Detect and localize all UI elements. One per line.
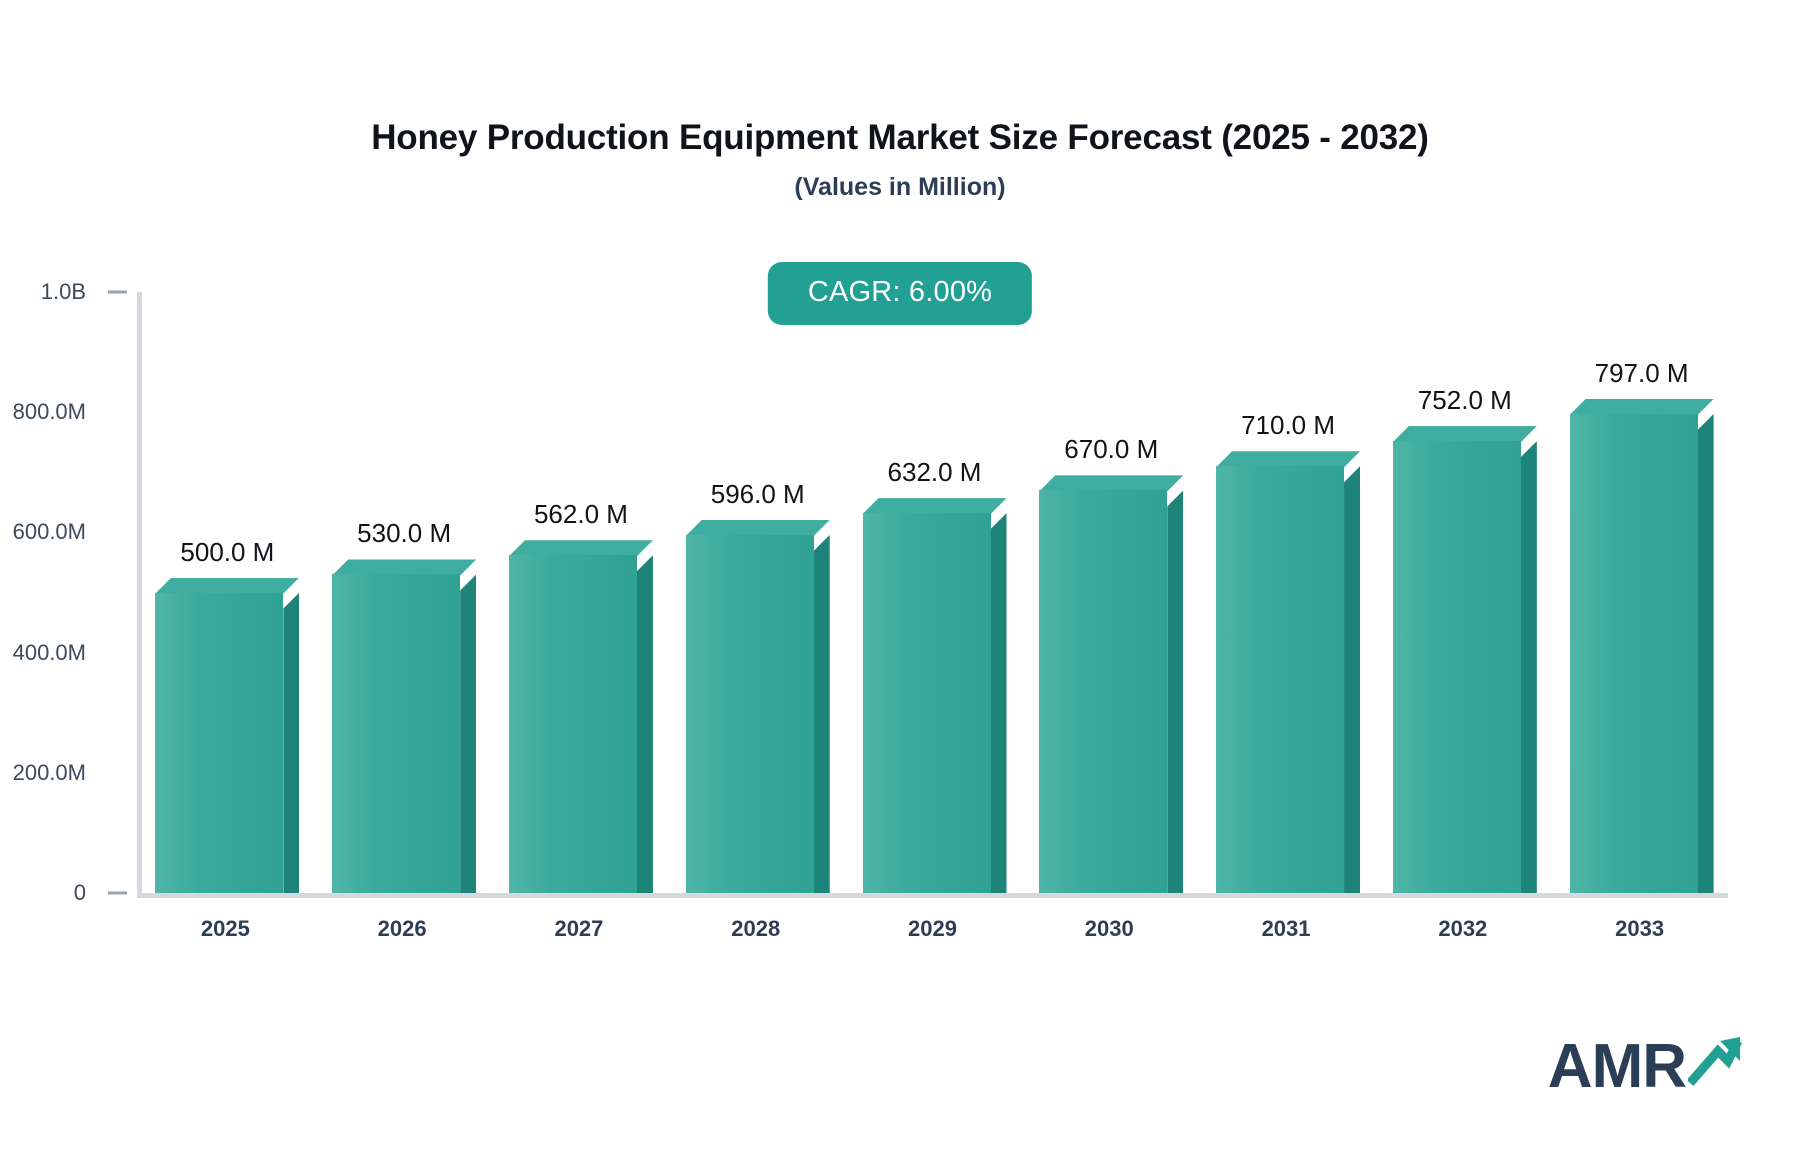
y-axis-line bbox=[137, 292, 142, 893]
y-axis-tick-label: 1.0B bbox=[0, 279, 86, 305]
x-axis-tick-label: 2033 bbox=[1615, 916, 1664, 942]
bar-top-face bbox=[686, 520, 830, 536]
growth-arrow-icon bbox=[1688, 1035, 1742, 1092]
bar-front-face bbox=[686, 535, 814, 893]
bar-value-label: 752.0 M bbox=[1418, 385, 1512, 416]
page-title: Honey Production Equipment Market Size F… bbox=[0, 118, 1800, 158]
bar-side-face bbox=[283, 593, 299, 894]
bar-front-face bbox=[332, 574, 460, 893]
bar-side-face bbox=[1521, 441, 1537, 893]
bar-front-face bbox=[1393, 441, 1521, 893]
bar-value-label: 797.0 M bbox=[1595, 358, 1689, 389]
y-axis-tick-mark bbox=[108, 291, 127, 294]
amr-logo: AMR bbox=[1548, 1035, 1742, 1098]
bar bbox=[1039, 292, 1183, 893]
x-axis-line bbox=[137, 893, 1728, 898]
bar bbox=[332, 292, 476, 893]
y-axis-tick-label: 0 bbox=[0, 880, 86, 906]
bar-value-label: 670.0 M bbox=[1064, 434, 1158, 465]
chart-page: Honey Production Equipment Market Size F… bbox=[0, 0, 1800, 1156]
y-axis-tick-mark bbox=[108, 892, 127, 895]
bar-top-face bbox=[1393, 426, 1537, 442]
bar bbox=[686, 292, 830, 893]
chart-subtitle: (Values in Million) bbox=[0, 173, 1800, 202]
bar-side-face bbox=[814, 535, 830, 893]
bar bbox=[1216, 292, 1360, 893]
x-axis-tick-label: 2031 bbox=[1262, 916, 1311, 942]
bar-value-label: 500.0 M bbox=[180, 537, 274, 568]
bar-value-label: 562.0 M bbox=[534, 499, 628, 530]
bar-side-face bbox=[1344, 466, 1360, 893]
bar-side-face bbox=[1698, 414, 1714, 893]
bar-side-face bbox=[1167, 490, 1183, 893]
y-axis-tick-label: 800.0M bbox=[0, 399, 86, 425]
bar-value-label: 632.0 M bbox=[888, 457, 982, 488]
amr-logo-text: AMR bbox=[1548, 1036, 1686, 1098]
bar bbox=[155, 292, 299, 893]
bar-value-label: 596.0 M bbox=[711, 479, 805, 510]
x-axis-tick-label: 2025 bbox=[201, 916, 250, 942]
x-axis-tick-label: 2027 bbox=[554, 916, 603, 942]
x-axis-tick-label: 2026 bbox=[378, 916, 427, 942]
bar-front-face bbox=[155, 593, 283, 894]
bar-front-face bbox=[1039, 490, 1167, 893]
y-axis-tick-label: 400.0M bbox=[0, 640, 86, 666]
bar-front-face bbox=[863, 513, 991, 893]
x-axis-tick-label: 2032 bbox=[1438, 916, 1487, 942]
y-axis-tick-label: 600.0M bbox=[0, 519, 86, 545]
bar-top-face bbox=[1039, 475, 1183, 491]
bar bbox=[863, 292, 1007, 893]
bar-front-face bbox=[509, 555, 637, 893]
bar-front-face bbox=[1216, 466, 1344, 893]
y-axis-tick-label: 200.0M bbox=[0, 760, 86, 786]
bar-top-face bbox=[332, 559, 476, 575]
bar-top-face bbox=[1570, 399, 1714, 415]
bar-side-face bbox=[460, 574, 476, 893]
bar-top-face bbox=[155, 578, 299, 594]
x-axis-tick-label: 2029 bbox=[908, 916, 957, 942]
bar bbox=[509, 292, 653, 893]
x-axis-tick-label: 2030 bbox=[1085, 916, 1134, 942]
bar-side-face bbox=[991, 513, 1007, 893]
bar-value-label: 710.0 M bbox=[1241, 410, 1335, 441]
bar-side-face bbox=[637, 555, 653, 893]
bar bbox=[1393, 292, 1537, 893]
bar-top-face bbox=[509, 540, 653, 556]
bar-top-face bbox=[863, 498, 1007, 514]
bar-value-label: 530.0 M bbox=[357, 518, 451, 549]
plot-area: 500.0 M530.0 M562.0 M596.0 M632.0 M670.0… bbox=[137, 292, 1728, 893]
x-axis-tick-label: 2028 bbox=[731, 916, 780, 942]
bar-front-face bbox=[1570, 414, 1698, 893]
bar-top-face bbox=[1216, 451, 1360, 467]
